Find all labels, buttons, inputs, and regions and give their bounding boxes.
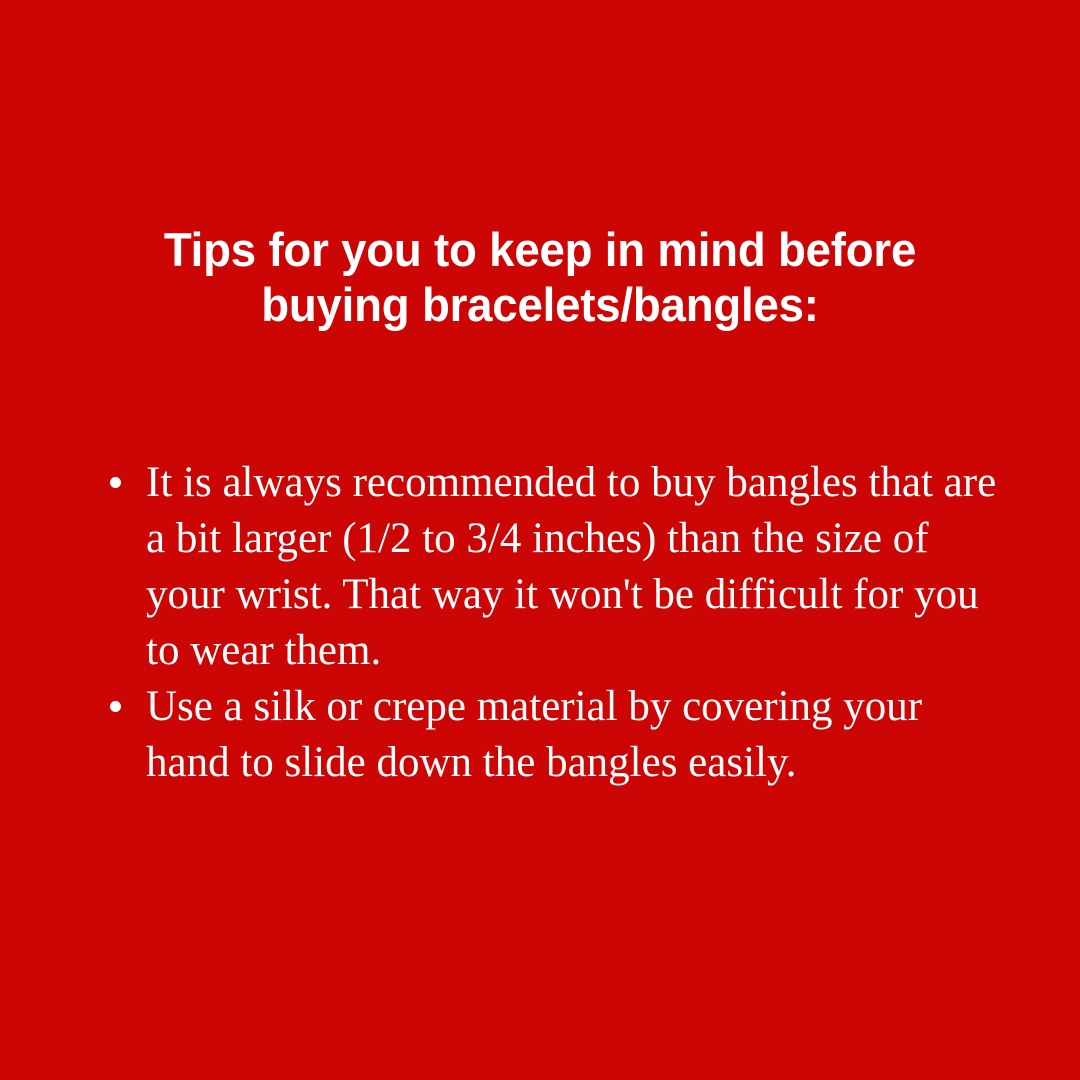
list-item: It is always recommended to buy bangles … [108, 455, 1008, 679]
list-item: Use a silk or crepe material by covering… [108, 679, 1008, 791]
tips-list: It is always recommended to buy bangles … [108, 455, 1008, 791]
list-item-text: It is always recommended to buy bangles … [146, 455, 1008, 679]
bullet-icon [110, 477, 121, 488]
page-title: Tips for you to keep in mind before buyi… [104, 222, 977, 332]
poster-canvas: Tips for you to keep in mind before buyi… [0, 0, 1080, 1080]
list-item-text: Use a silk or crepe material by covering… [146, 679, 1008, 791]
heading-block: Tips for you to keep in mind before buyi… [90, 222, 990, 332]
bullet-icon [110, 701, 121, 712]
